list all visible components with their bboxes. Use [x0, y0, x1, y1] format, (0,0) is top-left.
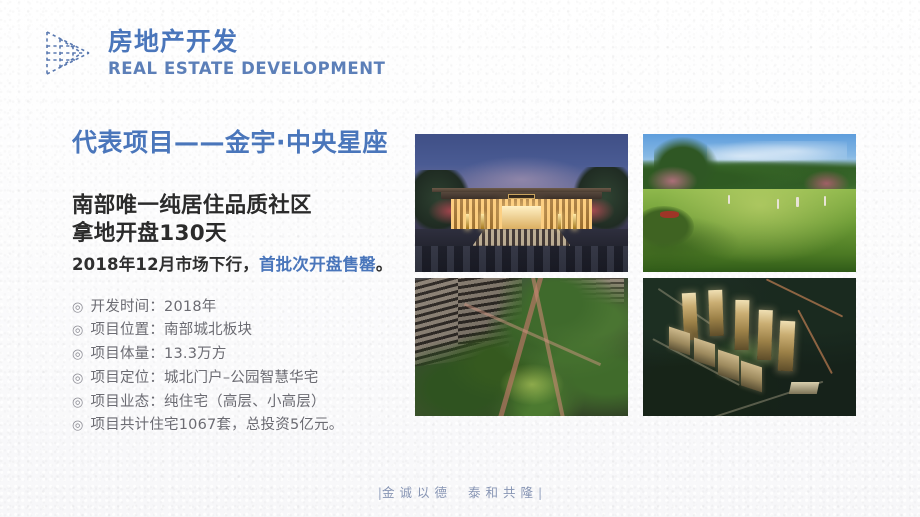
list-item: ◎ 项目位置：南部城北板块: [72, 319, 412, 343]
photo-park-lawn-daylight: [643, 134, 856, 272]
sub-line-suffix: 。: [376, 255, 393, 274]
photo-aerial-residential-garden: [415, 278, 628, 416]
slide-canvas: 房地产开发 REAL ESTATE DEVELOPMENT 代表项目——金宇·中…: [0, 0, 920, 517]
dashed-triangle-logo-icon: [38, 24, 96, 82]
left-content-column: 代表项目——金宇·中央星座 南部唯一纯居住品质社区 拿地开盘130天 2018年…: [72, 128, 412, 437]
footer-text-right: 泰和共隆: [468, 485, 538, 500]
photo-aerial-towers-night: [643, 278, 856, 416]
double-circle-bullet-icon: ◎: [72, 348, 84, 361]
project-photo-grid: [415, 134, 856, 416]
double-circle-bullet-icon: ◎: [72, 419, 84, 432]
lead-line-2: 拿地开盘130天: [72, 220, 412, 248]
list-item-label: 项目体量：13.3万方: [91, 347, 227, 362]
sub-line-highlight: 首批次开盘售罄: [259, 255, 376, 274]
list-item-label: 项目定位：城北门户–公园智慧华宅: [91, 371, 319, 386]
project-fact-list: ◎ 开发时间：2018年 ◎ 项目位置：南部城北板块 ◎ 项目体量：13.3万方…: [72, 295, 412, 437]
list-item: ◎ 项目体量：13.3万方: [72, 343, 412, 367]
list-item: ◎ 开发时间：2018年: [72, 295, 412, 319]
sub-line: 2018年12月市场下行，首批次开盘售罄。: [72, 254, 412, 275]
photo-clubhouse-entrance-dusk: [415, 134, 628, 272]
footer-text-left: 金诚以德: [382, 485, 452, 500]
list-item-label: 项目业态：纯住宅（高层、小高层）: [91, 395, 326, 410]
list-item-label: 项目位置：南部城北板块: [91, 323, 253, 338]
double-circle-bullet-icon: ◎: [72, 396, 84, 409]
slide-footer: |金诚以德泰和共隆|: [0, 482, 920, 501]
lead-line-1: 南部唯一纯居住品质社区: [72, 192, 412, 220]
sub-line-prefix: 2018年12月市场下行，: [72, 255, 259, 274]
list-item-label: 开发时间：2018年: [91, 300, 217, 315]
footer-bar-right: |: [538, 485, 542, 500]
list-item: ◎ 项目定位：城北门户–公园智慧华宅: [72, 366, 412, 390]
section-title: 代表项目——金宇·中央星座: [72, 128, 412, 158]
list-item: ◎ 项目共计住宅1067套，总投资5亿元。: [72, 414, 412, 438]
list-item: ◎ 项目业态：纯住宅（高层、小高层）: [72, 390, 412, 414]
lead-block: 南部唯一纯居住品质社区 拿地开盘130天 2018年12月市场下行，首批次开盘售…: [72, 192, 412, 275]
list-item-label: 项目共计住宅1067套，总投资5亿元。: [91, 418, 344, 433]
double-circle-bullet-icon: ◎: [72, 324, 84, 337]
slide-header: 房地产开发 REAL ESTATE DEVELOPMENT: [38, 24, 386, 82]
double-circle-bullet-icon: ◎: [72, 301, 84, 314]
double-circle-bullet-icon: ◎: [72, 372, 84, 385]
brand-title-en: REAL ESTATE DEVELOPMENT: [108, 58, 386, 80]
brand-title-cn: 房地产开发: [108, 28, 386, 56]
header-text-block: 房地产开发 REAL ESTATE DEVELOPMENT: [108, 26, 386, 80]
